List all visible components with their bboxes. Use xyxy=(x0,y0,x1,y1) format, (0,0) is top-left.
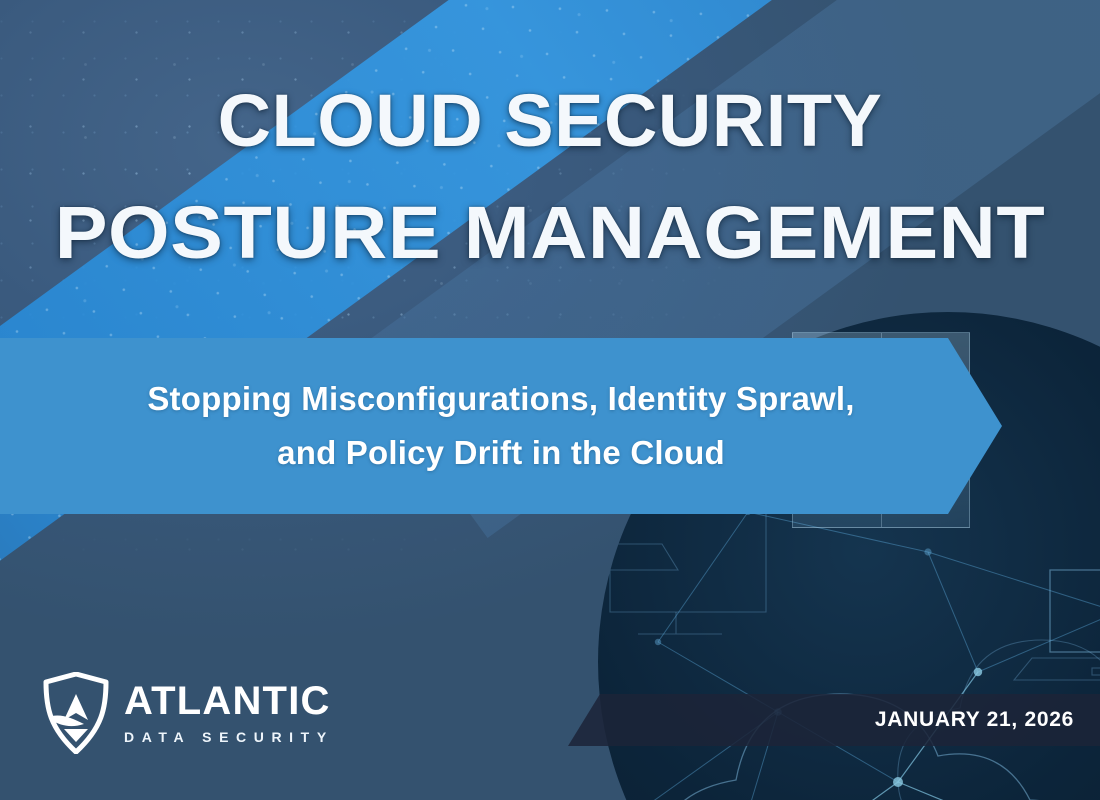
company-logo: ATLANTIC DATA SECURITY xyxy=(42,672,334,754)
logo-wordmark: ATLANTIC DATA SECURITY xyxy=(124,681,334,746)
logo-tagline: DATA SECURITY xyxy=(124,730,334,744)
shield-arrow-icon xyxy=(42,672,110,754)
page-title: CLOUD SECURITY POSTURE MANAGEMENT xyxy=(0,84,1100,270)
subtitle-banner: Stopping Misconfigurations, Identity Spr… xyxy=(0,338,1002,514)
date-badge: JANUARY 21, 2026 xyxy=(568,694,1100,746)
title-line-2: POSTURE MANAGEMENT xyxy=(0,196,1100,270)
logo-company-name: ATLANTIC xyxy=(124,681,334,721)
presentation-date: JANUARY 21, 2026 xyxy=(875,708,1100,732)
subtitle-line-1: Stopping Misconfigurations, Identity Spr… xyxy=(51,372,951,426)
title-line-1: CLOUD SECURITY xyxy=(0,84,1100,158)
subtitle-line-2: and Policy Drift in the Cloud xyxy=(51,426,951,480)
title-slide: CLOUD SECURITY POSTURE MANAGEMENT Stoppi… xyxy=(0,0,1100,800)
subtitle-text: Stopping Misconfigurations, Identity Spr… xyxy=(51,372,951,480)
